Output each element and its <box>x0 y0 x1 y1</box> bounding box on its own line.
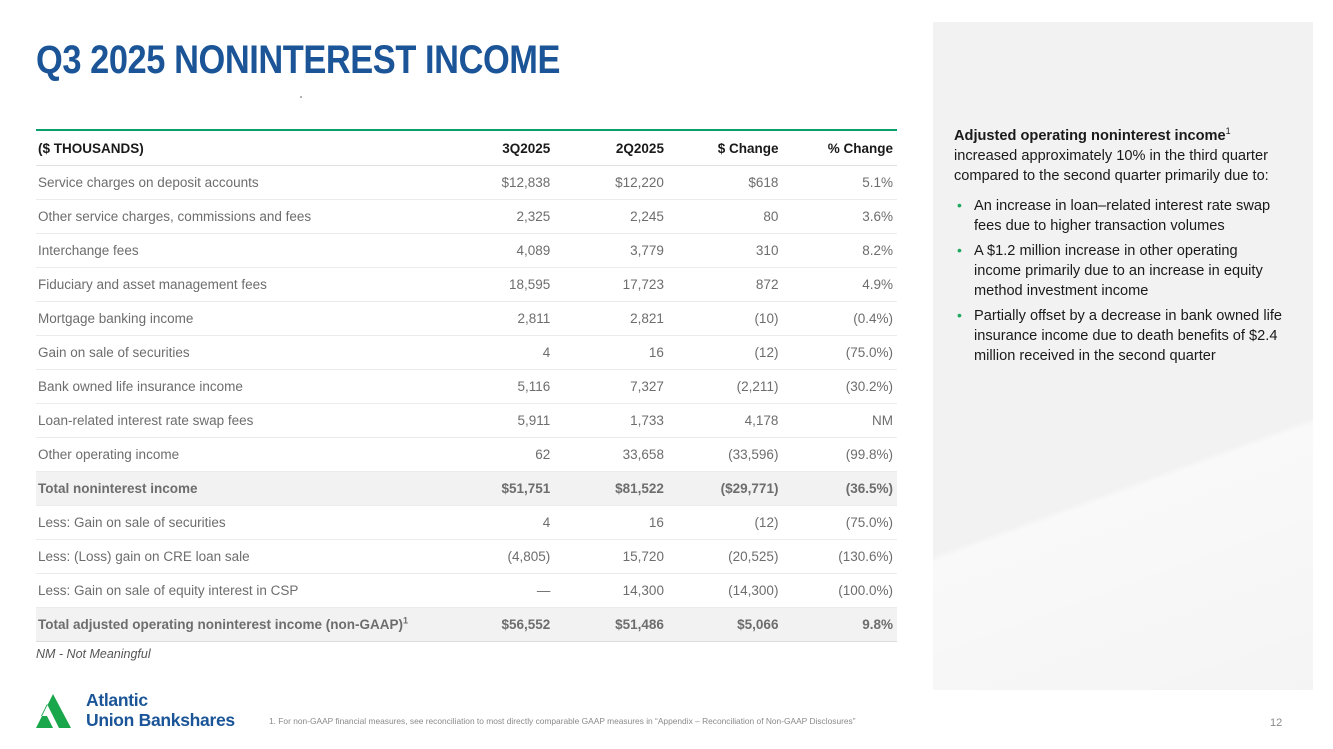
logo-line-2: Union Bankshares <box>86 712 235 730</box>
row-label: Loan-related interest rate swap fees <box>36 404 441 438</box>
row-value: (33,596) <box>668 438 783 472</box>
table-row: Total noninterest income$51,751$81,522($… <box>36 472 897 506</box>
row-value: (75.0%) <box>782 336 897 370</box>
row-label: Service charges on deposit accounts <box>36 166 441 200</box>
row-label: Gain on sale of securities <box>36 336 441 370</box>
row-value: (36.5%) <box>782 472 897 506</box>
nm-footnote: NM - Not Meaningful <box>36 647 151 661</box>
row-value: 17,723 <box>554 268 668 302</box>
row-value: (4,805) <box>441 540 555 574</box>
column-header-percent-change: % Change <box>782 130 897 166</box>
row-value: 4,089 <box>441 234 555 268</box>
row-value: $5,066 <box>668 608 783 642</box>
row-label: Other service charges, commissions and f… <box>36 200 441 234</box>
row-label: Less: (Loss) gain on CRE loan sale <box>36 540 441 574</box>
row-value: 16 <box>554 336 668 370</box>
table-header-row: ($ THOUSANDS) 3Q2025 2Q2025 $ Change % C… <box>36 130 897 166</box>
row-value: $12,838 <box>441 166 555 200</box>
table-row: Loan-related interest rate swap fees5,91… <box>36 404 897 438</box>
table-row: Gain on sale of securities416(12)(75.0%) <box>36 336 897 370</box>
row-value: 5.1% <box>782 166 897 200</box>
row-value: $51,486 <box>554 608 668 642</box>
table-row: Total adjusted operating noninterest inc… <box>36 608 897 642</box>
row-value: (130.6%) <box>782 540 897 574</box>
row-value: 14,300 <box>554 574 668 608</box>
row-value: (20,525) <box>668 540 783 574</box>
row-value: 80 <box>668 200 783 234</box>
table-row: Interchange fees4,0893,7793108.2% <box>36 234 897 268</box>
row-value: 2,821 <box>554 302 668 336</box>
noninterest-income-table: ($ THOUSANDS) 3Q2025 2Q2025 $ Change % C… <box>36 129 897 642</box>
table-row: Less: (Loss) gain on CRE loan sale(4,805… <box>36 540 897 574</box>
table-row: Mortgage banking income2,8112,821(10)(0.… <box>36 302 897 336</box>
triangle-chevron-mark-icon <box>36 694 82 728</box>
commentary-lede: Adjusted operating noninterest income1 i… <box>954 126 1287 186</box>
row-value: (99.8%) <box>782 438 897 472</box>
row-value: ($29,771) <box>668 472 783 506</box>
row-label: Fiduciary and asset management fees <box>36 268 441 302</box>
row-label: Other operating income <box>36 438 441 472</box>
row-value: 5,911 <box>441 404 555 438</box>
table-row: Less: Gain on sale of equity interest in… <box>36 574 897 608</box>
row-label: Bank owned life insurance income <box>36 370 441 404</box>
row-label: Mortgage banking income <box>36 302 441 336</box>
row-value: 4 <box>441 506 555 540</box>
commentary-lede-bold: Adjusted operating noninterest income <box>954 128 1226 144</box>
table-row: Fiduciary and asset management fees18,59… <box>36 268 897 302</box>
row-value: (30.2%) <box>782 370 897 404</box>
row-label: Total adjusted operating noninterest inc… <box>36 608 441 642</box>
table-row: Less: Gain on sale of securities416(12)(… <box>36 506 897 540</box>
row-value: 872 <box>668 268 783 302</box>
column-header-dollar-change: $ Change <box>668 130 783 166</box>
logo-wordmark: Atlantic Union Bankshares <box>86 692 235 729</box>
stray-dot-artifact <box>300 96 302 98</box>
row-value: $618 <box>668 166 783 200</box>
row-value: 2,245 <box>554 200 668 234</box>
row-value: (75.0%) <box>782 506 897 540</box>
row-value: (100.0%) <box>782 574 897 608</box>
row-value: 9.8% <box>782 608 897 642</box>
row-value: $51,751 <box>441 472 555 506</box>
slide-canvas: Q3 2025 NONINTEREST INCOME ($ THOUSANDS)… <box>0 0 1333 749</box>
row-value: 4.9% <box>782 268 897 302</box>
row-value: NM <box>782 404 897 438</box>
logo-line-1: Atlantic <box>86 690 148 710</box>
row-value: 7,327 <box>554 370 668 404</box>
row-value: (10) <box>668 302 783 336</box>
row-label: Less: Gain on sale of equity interest in… <box>36 574 441 608</box>
table-body: Service charges on deposit accounts$12,8… <box>36 166 897 642</box>
row-value: 3.6% <box>782 200 897 234</box>
row-value: 33,658 <box>554 438 668 472</box>
row-value: 2,811 <box>441 302 555 336</box>
row-value: — <box>441 574 555 608</box>
row-value: 310 <box>668 234 783 268</box>
table-header: ($ THOUSANDS) 3Q2025 2Q2025 $ Change % C… <box>36 130 897 166</box>
commentary-content: Adjusted operating noninterest income1 i… <box>933 22 1313 366</box>
column-header-label: ($ THOUSANDS) <box>36 130 441 166</box>
row-value: 1,733 <box>554 404 668 438</box>
row-value: $81,522 <box>554 472 668 506</box>
commentary-lede-rest: increased approximately 10% in the third… <box>954 148 1269 184</box>
row-value: 16 <box>554 506 668 540</box>
financial-table-container: ($ THOUSANDS) 3Q2025 2Q2025 $ Change % C… <box>36 129 897 642</box>
row-label: Total noninterest income <box>36 472 441 506</box>
row-value: 5,116 <box>441 370 555 404</box>
row-value: 62 <box>441 438 555 472</box>
column-header-3q2025: 3Q2025 <box>441 130 555 166</box>
row-value: 8.2% <box>782 234 897 268</box>
row-value: 4 <box>441 336 555 370</box>
row-value: (12) <box>668 336 783 370</box>
column-header-2q2025: 2Q2025 <box>554 130 668 166</box>
table-row: Other service charges, commissions and f… <box>36 200 897 234</box>
row-value: 3,779 <box>554 234 668 268</box>
row-value: $12,220 <box>554 166 668 200</box>
company-logo: Atlantic Union Bankshares <box>36 692 266 732</box>
table-row: Other operating income6233,658(33,596)(9… <box>36 438 897 472</box>
row-value: 4,178 <box>668 404 783 438</box>
row-label-superscript: 1 <box>403 616 408 626</box>
row-value: (2,211) <box>668 370 783 404</box>
commentary-panel: Adjusted operating noninterest income1 i… <box>933 22 1313 690</box>
commentary-bullet: An increase in loan–related interest rat… <box>954 196 1287 236</box>
commentary-lede-superscript: 1 <box>1226 126 1231 136</box>
row-label: Less: Gain on sale of securities <box>36 506 441 540</box>
page-number: 12 <box>1270 717 1282 729</box>
row-value: (14,300) <box>668 574 783 608</box>
row-value: (12) <box>668 506 783 540</box>
row-value: 15,720 <box>554 540 668 574</box>
commentary-bullet-list: An increase in loan–related interest rat… <box>954 196 1287 366</box>
row-value: 2,325 <box>441 200 555 234</box>
page-title: Q3 2025 NONINTEREST INCOME <box>36 38 560 82</box>
row-value: 18,595 <box>441 268 555 302</box>
slide-footnote: 1. For non-GAAP financial measures, see … <box>269 716 856 726</box>
row-value: $56,552 <box>441 608 555 642</box>
row-label: Interchange fees <box>36 234 441 268</box>
table-row: Service charges on deposit accounts$12,8… <box>36 166 897 200</box>
commentary-bullet: Partially offset by a decrease in bank o… <box>954 306 1287 366</box>
commentary-bullet: A $1.2 million increase in other operati… <box>954 241 1287 301</box>
table-row: Bank owned life insurance income5,1167,3… <box>36 370 897 404</box>
row-value: (0.4%) <box>782 302 897 336</box>
